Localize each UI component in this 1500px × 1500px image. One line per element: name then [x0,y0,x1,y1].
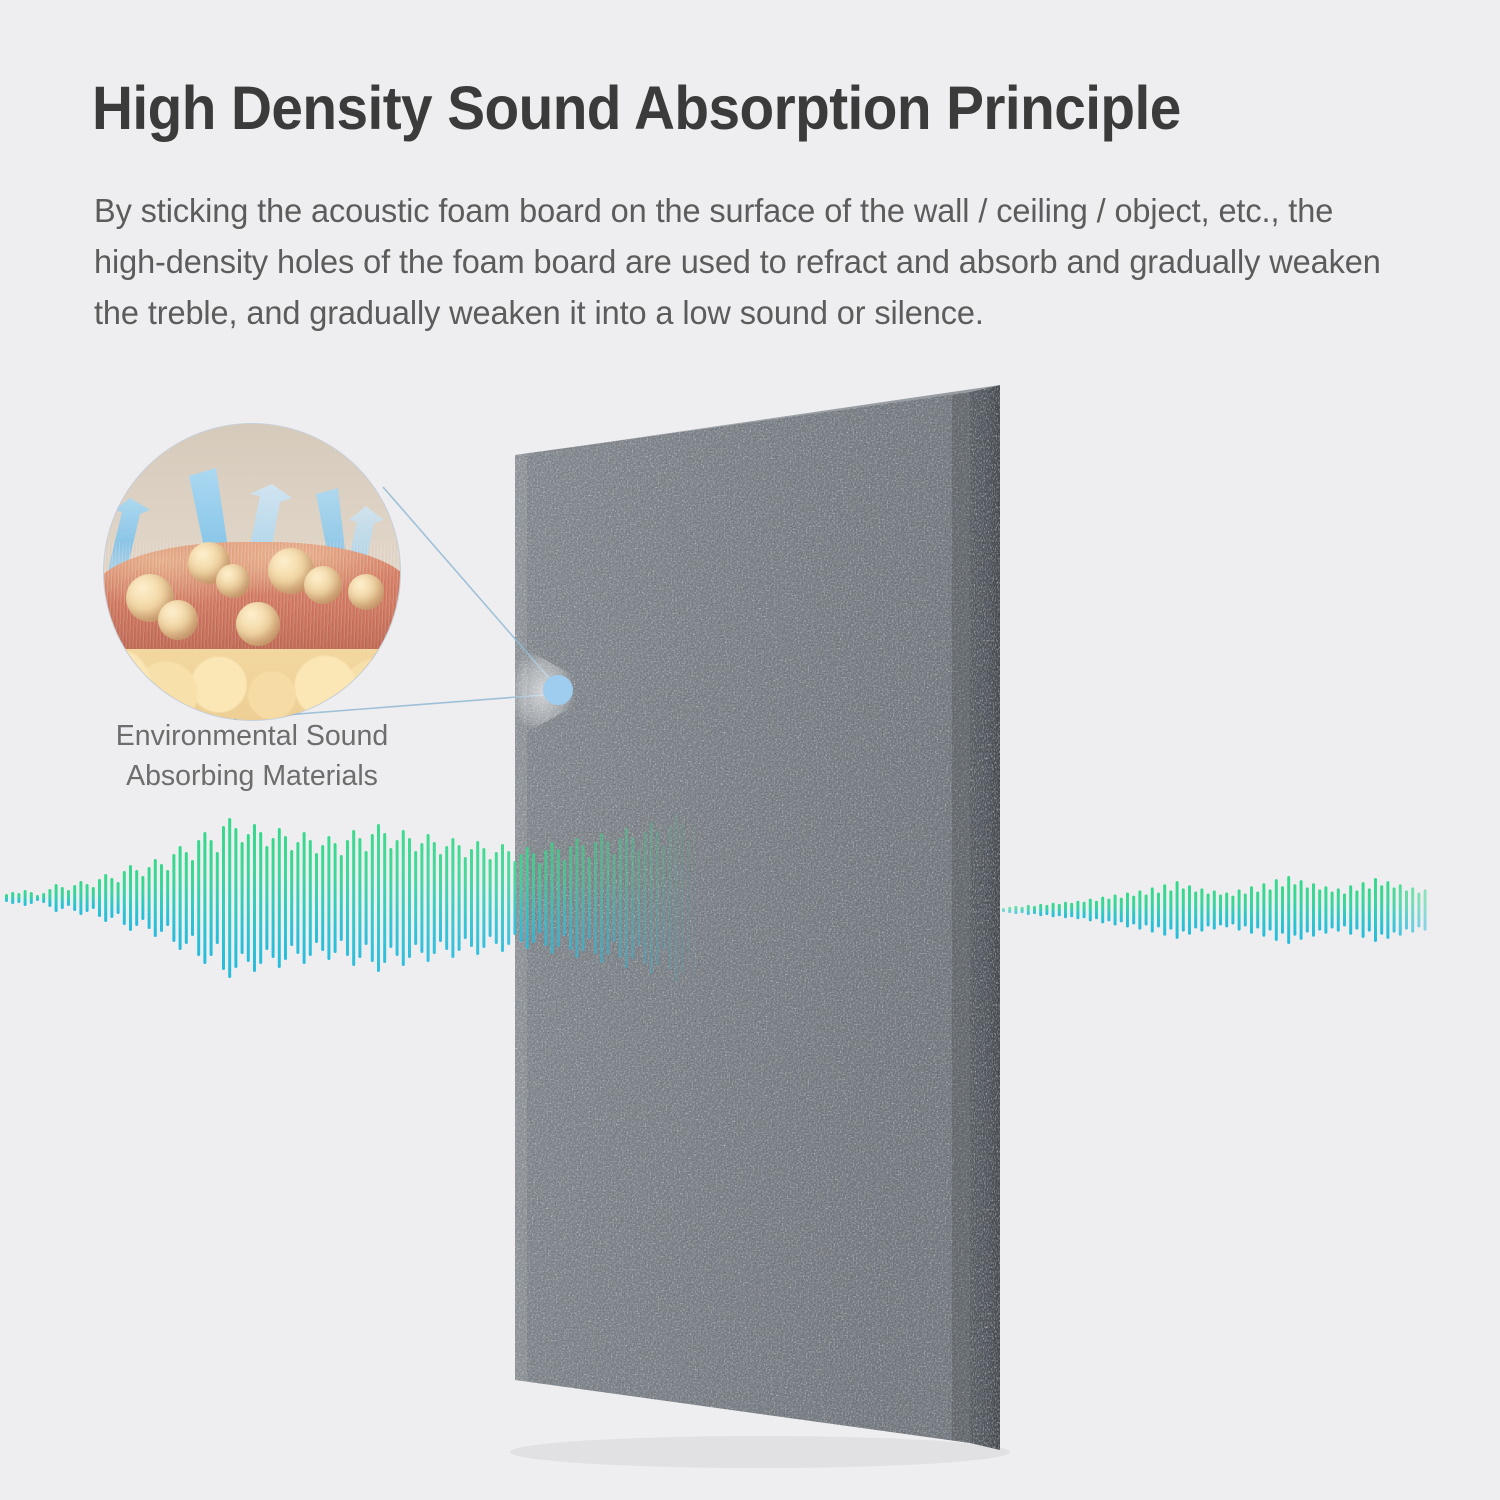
waveform-bar [371,834,374,962]
waveform-bar [1424,889,1427,930]
waveform-bar [48,889,51,907]
waveform-bar [203,832,206,964]
waveform-bar [1126,892,1129,927]
waveform-bar [458,845,461,951]
waveform-bar [67,890,70,906]
waveform-bar [1250,886,1253,933]
waveform-bar [1244,894,1247,927]
waveform-bar [613,854,616,942]
waveform-bar [644,832,647,964]
waveform-bar [1200,888,1203,931]
waveform-bar [675,814,678,982]
waveform-bar [5,894,8,902]
waveform-bar [1349,885,1352,934]
waveform-bar [606,841,609,955]
waveform-bar [1355,890,1358,929]
waveform-bar [1120,898,1123,923]
waveform-bar [253,824,256,972]
waveform-bar [228,818,231,978]
waveform-bar [1225,892,1228,927]
waveform-bar [1386,881,1389,939]
waveform-bar [259,832,262,964]
waveform-bar [464,857,467,939]
attenuated-sound-wave [1002,876,1427,944]
waveform-bar [185,852,188,944]
waveform-bar [92,887,95,909]
waveform-bar [451,838,454,958]
waveform-bar [662,846,665,950]
waveform-bar [346,840,349,956]
waveform-bar [1070,903,1073,917]
waveform-bar [513,861,516,935]
waveform-bar [98,879,101,917]
inset-circle [104,424,400,720]
waveform-bar [11,892,14,904]
waveform-bar [172,854,175,942]
waveform-bar [1287,876,1290,944]
waveform-bar [544,850,547,946]
waveform-bar [445,846,448,950]
waveform-bar [1076,901,1079,920]
waveform-bar [117,882,120,914]
waveform-bar [129,865,132,931]
waveform-bar [340,855,343,941]
waveform-bar [1219,895,1222,926]
waveform-bar [1231,896,1234,925]
waveform-bar [296,842,299,954]
waveform-bar [1331,891,1334,928]
waveform-bar [315,853,318,943]
waveform-bar [557,849,560,947]
inset-particle [304,566,342,604]
waveform-bar [396,840,399,956]
waveform-bar [1399,884,1402,936]
waveform-bar [538,863,541,933]
waveform-bar [414,851,417,945]
infographic-canvas: High Density Sound Absorption Principle … [0,0,1500,1500]
waveform-bar [272,838,275,958]
waveform-bar [1089,899,1092,922]
waveform-bar [1293,884,1296,936]
waveform-bar [1058,904,1061,916]
waveform-bar [600,833,603,963]
waveform-bar [179,846,182,950]
waveform-bar [309,840,312,956]
waveform-bar [668,826,671,970]
waveform-bar [352,830,355,966]
waveform-bar [160,864,163,932]
waveform-bar [284,836,287,960]
waveform-bar [1163,884,1166,936]
waveform-bar [681,824,684,972]
waveform-bar [1157,892,1160,927]
waveform-bar [1045,905,1048,915]
waveform-bar [594,842,597,954]
waveform-bar [1052,903,1055,917]
waveform-bar [265,846,268,950]
waveform-bar [1107,899,1110,922]
waveform-bar [1169,890,1172,929]
waveform-bar [1008,907,1011,913]
waveform-bar [520,854,523,942]
waveform-bar [24,890,27,906]
waveform-bar [389,848,392,948]
waveform-bar [30,892,33,904]
waveform-bar [1417,892,1420,927]
waveform-bar [1362,882,1365,938]
waveform-bar [693,818,696,978]
waveform-bar [569,846,572,950]
waveform-bar [1182,888,1185,931]
waveform-bar [470,849,473,947]
waveform-bar [110,878,113,918]
waveform-bar [210,840,213,956]
waveform-bar [135,870,138,926]
waveform-bar [526,847,529,949]
waveform-bar [321,845,324,951]
waveform-bar [625,828,628,968]
inset-caption-line1: Environmental Sound [62,716,442,756]
waveform-bar [17,893,20,903]
waveform-bar [104,874,107,922]
waveform-bar [1207,894,1210,927]
waveform-bar [1306,887,1309,932]
waveform-bar [495,852,498,944]
waveform-bar [334,843,337,953]
waveform-bar [588,857,591,939]
waveform-bar [582,845,585,951]
waveform-bar [631,837,634,959]
waveform-bar [1027,905,1030,915]
waveform-bar [1188,885,1191,934]
waveform-bar [191,860,194,936]
waveform-bar [1083,902,1086,918]
waveform-bar [1238,889,1241,930]
waveform-bar [222,826,225,970]
inset-particle [216,564,250,598]
waveform-bar [377,824,380,972]
waveform-bar [1194,891,1197,928]
waveform-bar [36,895,39,901]
waveform-bar [61,887,64,909]
inset-base-spheres [104,649,400,720]
waveform-bar [1033,906,1036,914]
waveform-bar [166,870,169,926]
waveform-bar [358,838,361,958]
waveform-bar [278,828,281,968]
waveform-bar [1300,880,1303,940]
waveform-bar [1132,896,1135,925]
waveform-bar [1064,902,1067,918]
waveform-bar [42,893,45,903]
waveform-bar [1176,881,1179,939]
waveform-bar [1151,887,1154,932]
waveform-bar [1138,890,1141,929]
waveform-bar [656,831,659,965]
inset-caption: Environmental Sound Absorbing Materials [62,716,442,796]
waveform-bar [383,833,386,963]
waveform-bar [501,844,504,952]
waveform-bar [86,884,89,912]
waveform-bar [1281,886,1284,933]
waveform-bar [575,838,578,958]
waveform-bar [507,851,510,945]
waveform-bar [1101,897,1104,924]
waveform-bar [476,841,479,955]
waveform-bar [1380,885,1383,934]
waveform-bar [241,842,244,954]
waveform-bar [1014,906,1017,914]
waveform-bar [650,822,653,974]
waveform-bar [234,828,237,968]
waveform-bar [563,860,566,936]
waveform-bar [1312,883,1315,937]
waveform-bar [1269,889,1272,930]
waveform-bar [123,871,126,925]
waveform-bar [433,842,436,954]
waveform-bar [197,840,200,956]
waveform-bar [1368,888,1371,931]
waveform-bar [141,876,144,920]
waveform-bar [1095,901,1098,920]
waveform-bar [216,852,219,944]
waveform-bar [79,881,82,915]
waveform-bar [408,838,411,958]
waveform-bar [1374,878,1377,942]
inset-particle [158,600,198,640]
inset-caption-line2: Absorbing Materials [62,756,442,796]
waveform-bar [1393,887,1396,932]
incident-sound-wave [5,814,696,982]
waveform-bar [1213,890,1216,929]
waveform-bar [402,830,405,966]
waveform-bar [637,850,640,946]
waveform-bar [290,850,293,946]
waveform-bar [1256,891,1259,928]
waveform-bar [427,834,430,962]
waveform-bar [73,885,76,911]
waveform-bar [551,842,554,954]
waveform-bar [1318,889,1321,930]
inset-particle [348,574,384,610]
waveform-bar [148,867,151,929]
waveform-bar [532,853,535,943]
waveform-bar [1343,894,1346,927]
waveform-bar [327,836,330,960]
waveform-bar [1039,904,1042,916]
waveform-bar [247,834,250,962]
waveform-bar [1411,887,1414,932]
waveform-bar [1405,890,1408,929]
waveform-bar [303,832,306,964]
waveform-bar [687,840,690,956]
magnified-material-inset [104,424,400,720]
inset-particle [236,602,280,646]
waveform-bar [1002,908,1005,912]
waveform-bar [55,884,58,912]
waveform-bar [439,854,442,942]
waveform-bar [489,859,492,937]
waveform-bar [1262,883,1265,937]
waveform-bar [1337,888,1340,931]
waveform-bar [154,859,157,937]
waveform-bar [420,843,423,953]
waveform-bar [1021,907,1024,913]
waveform-bar [619,838,622,958]
waveform-bar [482,848,485,948]
waveform-bar [365,851,368,945]
waveform-bar [1114,895,1117,926]
waveform-bar [1145,895,1148,926]
waveform-bar [1275,879,1278,941]
waveform-bar [1324,886,1327,933]
